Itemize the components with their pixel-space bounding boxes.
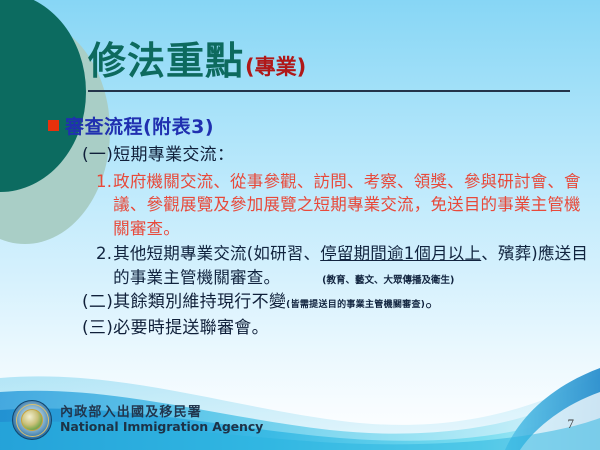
section-heading-label: 審查流程(附表3) xyxy=(65,112,214,139)
list-item-2-text: 其他短期專業交流(如研習、停留期間逾1個月以上、殯葬)應送目的事業主管機關審查。… xyxy=(113,242,594,289)
list-item-2-text-before: 其他短期專業交流(如研習、 xyxy=(113,244,320,263)
section-heading-review-process: 審查流程(附表3) xyxy=(48,112,594,139)
page-title-qualifier: (專業) xyxy=(245,51,306,81)
title-underline-rule xyxy=(88,90,570,92)
subsection-one: (一)短期專業交流： xyxy=(82,144,594,167)
list-item-1: 1. 政府機關交流、從事參觀、訪問、考察、領獎、參與研討會、會議、參觀展覽及參加… xyxy=(96,170,594,240)
subsection-two-tail: 。 xyxy=(425,292,442,312)
page-number: 7 xyxy=(568,416,575,432)
emblem-globe xyxy=(21,409,43,431)
slide-body: 審查流程(附表3) (一)短期專業交流： 1. 政府機關交流、從事參觀、訪問、考… xyxy=(48,112,594,343)
page-title: 修法重點 xyxy=(88,42,244,82)
subsection-two-label: (二)其餘類別維持現行不變 xyxy=(82,292,286,312)
slide-canvas: 修法重點 (專業) 審查流程(附表3) (一)短期專業交流： 1. 政府機關交流… xyxy=(0,0,600,450)
immigration-agency-emblem-icon xyxy=(12,400,52,440)
list-item-1-text: 政府機關交流、從事參觀、訪問、考察、領獎、參與研討會、會議、參觀展覽及參加展覽之… xyxy=(113,170,594,240)
list-item-2: 2. 其他短期專業交流(如研習、停留期間逾1個月以上、殯葬)應送目的事業主管機關… xyxy=(96,242,594,289)
subsection-two: (二)其餘類別維持現行不變(皆需提送目的事業主管機關審查)。 xyxy=(82,291,594,314)
org-name-zh: 內政部入出國及移民署 xyxy=(60,406,263,420)
title-line: 修法重點 (專業) xyxy=(88,42,578,82)
slide-title-block: 修法重點 (專業) xyxy=(88,42,578,92)
list-item-1-number: 1. xyxy=(96,170,113,240)
org-name-en: National Immigration Agency xyxy=(60,420,263,434)
square-bullet-icon xyxy=(48,120,59,131)
list-item-2-text-underlined: 停留期間逾1個月以上 xyxy=(320,244,481,263)
subsection-two-annotation: (皆需提送目的事業主管機關審查) xyxy=(286,300,425,310)
org-name-block: 內政部入出國及移民署 National Immigration Agency xyxy=(60,406,263,434)
footer-branding: 內政部入出國及移民署 National Immigration Agency xyxy=(12,398,263,442)
list-item-2-number: 2. xyxy=(96,242,113,289)
list-item-2-annotation: (教育、藝文、大眾傳播及衛生) xyxy=(322,275,454,286)
